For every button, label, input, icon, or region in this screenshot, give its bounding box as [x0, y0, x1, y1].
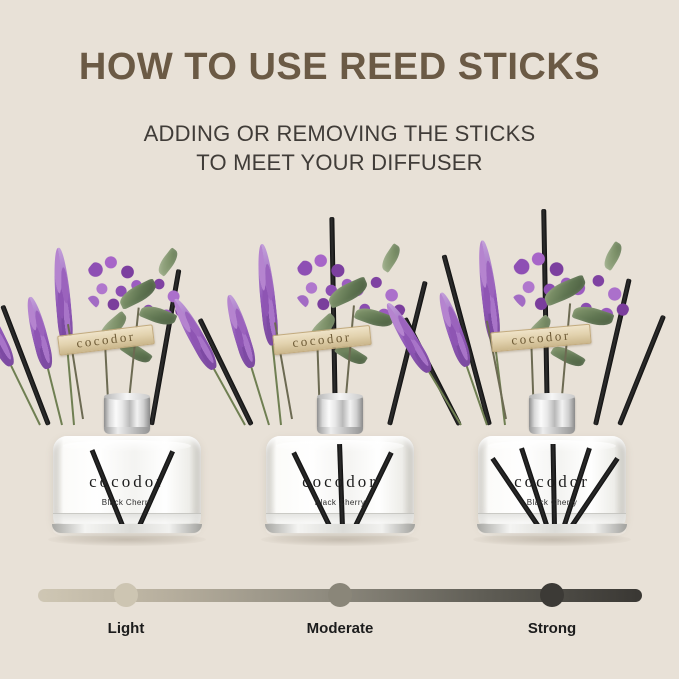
bottle-collar — [317, 396, 363, 430]
diffuser-bottle: cocodor Black Cherry — [47, 396, 207, 546]
bottle-collar-top — [104, 393, 150, 400]
cocodor-tag: cocodor — [490, 324, 591, 353]
bouquet-light: cocodor — [22, 200, 232, 425]
slider-knob-light[interactable] — [114, 583, 138, 607]
page-subtitle: ADDING OR REMOVING THE STICKS TO MEET YO… — [0, 120, 679, 177]
cocodor-tag-label: cocodor — [511, 327, 572, 348]
bottle-scent-label: Black Cherry — [53, 498, 201, 507]
cocodor-tag-label: cocodor — [292, 329, 353, 351]
page-title: HOW TO USE REED STICKS — [0, 48, 679, 88]
diffuser-light[interactable]: cocodor cocodor Black Cherry — [22, 200, 232, 560]
bottle-collar-top — [529, 393, 575, 400]
diffuser-strong[interactable]: cocodor cocodor Black Cherry — [447, 200, 657, 560]
submerged-reed — [136, 450, 175, 529]
submerged-reed — [551, 444, 557, 528]
bottle-shadow — [473, 533, 631, 546]
subtitle-line-2: TO MEET YOUR DIFFUSER — [0, 149, 679, 178]
bottle-base-rim — [52, 524, 202, 533]
bottle-collar — [529, 396, 575, 430]
bottle-brand-label: cocodor — [53, 472, 201, 492]
bottle-base-rim — [477, 524, 627, 533]
submerged-reed — [352, 451, 393, 529]
bottle-shadow — [261, 533, 419, 546]
bottle-collar — [104, 396, 150, 430]
bottle-shadow — [48, 533, 206, 546]
bottle-body: cocodor Black Cherry — [266, 436, 414, 532]
slider-label-light: Light — [108, 620, 145, 637]
submerged-reed — [292, 451, 333, 529]
bouquet-strong: cocodor — [447, 200, 657, 425]
diffuser-bottle: cocodor Black Cherry — [260, 396, 420, 546]
bottle-base-rim — [265, 524, 415, 533]
intensity-slider[interactable] — [38, 583, 642, 607]
slider-knob-moderate[interactable] — [328, 583, 352, 607]
bottle-body: cocodor Black Cherry — [53, 436, 201, 532]
subtitle-line-1: ADDING OR REMOVING THE STICKS — [144, 121, 536, 146]
submerged-reed — [90, 449, 126, 529]
diffuser-bottle: cocodor Black Cherry — [472, 396, 632, 546]
slider-label-moderate: Moderate — [307, 620, 374, 637]
slider-label-strong: Strong — [528, 620, 576, 637]
sage-leaf — [378, 243, 404, 273]
diffuser-moderate[interactable]: cocodor cocodor Black Cherry — [235, 200, 445, 560]
sage-leaf — [600, 241, 625, 271]
diffuser-row: cocodor cocodor Black Cherry — [0, 200, 679, 560]
bottle-collar-top — [317, 393, 363, 400]
slider-labels: Light Moderate Strong — [0, 620, 679, 644]
infographic-canvas: HOW TO USE REED STICKS ADDING OR REMOVIN… — [0, 0, 679, 679]
bottle-body: cocodor Black Cherry — [478, 436, 626, 532]
submerged-reed — [337, 444, 345, 528]
slider-knob-strong[interactable] — [540, 583, 564, 607]
bouquet-moderate: cocodor — [235, 200, 445, 425]
